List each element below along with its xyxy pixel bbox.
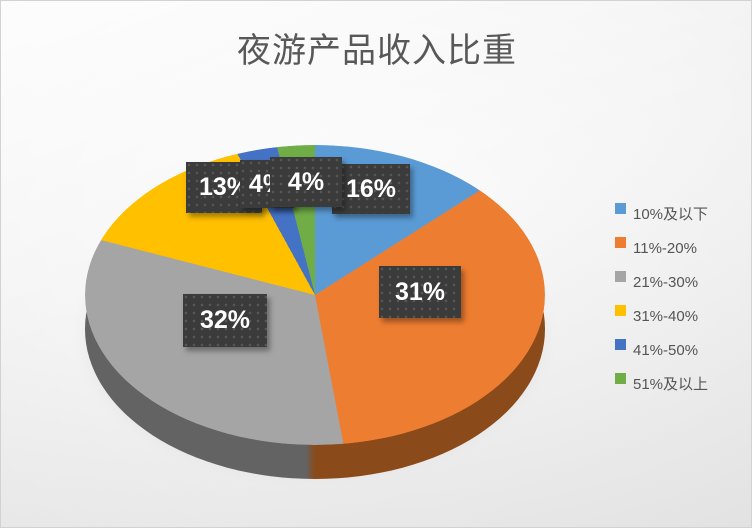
data-label-11-20: 31% <box>379 266 461 318</box>
pie-chart-slide: 夜游产品收入比重 13% 4% 4% 16% 31% 32% 10%及以下 11… <box>0 0 752 528</box>
legend-item-21-30[interactable]: 21%-30% <box>615 265 747 299</box>
legend-item-label: 31%-40% <box>633 309 698 324</box>
legend-item-31-40[interactable]: 31%-40% <box>615 299 747 333</box>
legend-swatch-icon <box>615 203 626 214</box>
data-label-21-30: 32% <box>183 294 267 347</box>
legend-swatch-icon <box>615 271 626 282</box>
legend-swatch-icon <box>615 305 626 316</box>
data-label-51-above: 4% <box>270 157 342 207</box>
legend-item-label: 51%及以上 <box>633 377 708 392</box>
data-label-10-below: 16% <box>332 164 410 214</box>
legend-item-label: 41%-50% <box>633 343 698 358</box>
chart-title: 夜游产品收入比重 <box>1 23 752 72</box>
legend-item-label: 11%-20% <box>633 241 697 256</box>
legend-item-41-50[interactable]: 41%-50% <box>615 333 747 367</box>
legend-swatch-icon <box>615 339 626 350</box>
legend-swatch-icon <box>615 373 626 384</box>
legend-swatch-icon <box>615 237 626 248</box>
legend-item-11-20[interactable]: 11%-20% <box>615 231 747 265</box>
legend-item-label: 21%-30% <box>633 275 698 290</box>
legend-item-51-above[interactable]: 51%及以上 <box>615 367 747 401</box>
pie-chart-graphic[interactable] <box>65 93 565 493</box>
chart-legend: 10%及以下 11%-20% 21%-30% 31%-40% 41%-50% 5… <box>615 197 747 401</box>
legend-item-label: 10%及以下 <box>633 207 708 222</box>
legend-item-10-below[interactable]: 10%及以下 <box>615 197 747 231</box>
